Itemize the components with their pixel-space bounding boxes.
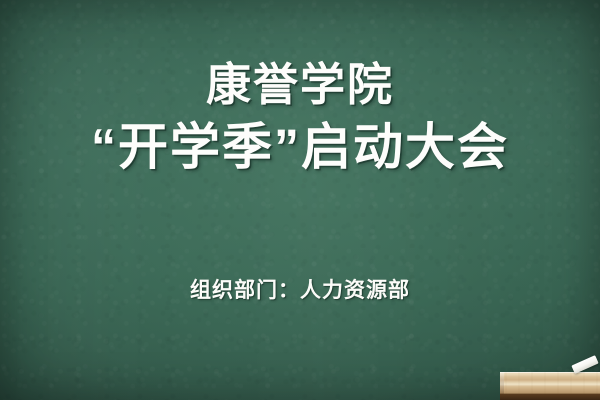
title-line-2: “开学季”启动大会 <box>0 117 600 178</box>
presentation-slide: 康誉学院 “开学季”启动大会 组织部门：人力资源部 <box>0 0 600 400</box>
wooden-chalk-ledge <box>500 372 600 400</box>
ledge-left-cap <box>500 372 504 394</box>
slide-subtitle: 组织部门：人力资源部 <box>0 274 600 304</box>
ledge-wood-grain <box>500 372 600 394</box>
title-line-1: 康誉学院 <box>0 58 600 113</box>
slide-title: 康誉学院 “开学季”启动大会 <box>0 58 600 178</box>
slide-content: 康誉学院 “开学季”启动大会 组织部门：人力资源部 <box>0 0 600 400</box>
ledge-underside-shadow <box>500 394 600 400</box>
